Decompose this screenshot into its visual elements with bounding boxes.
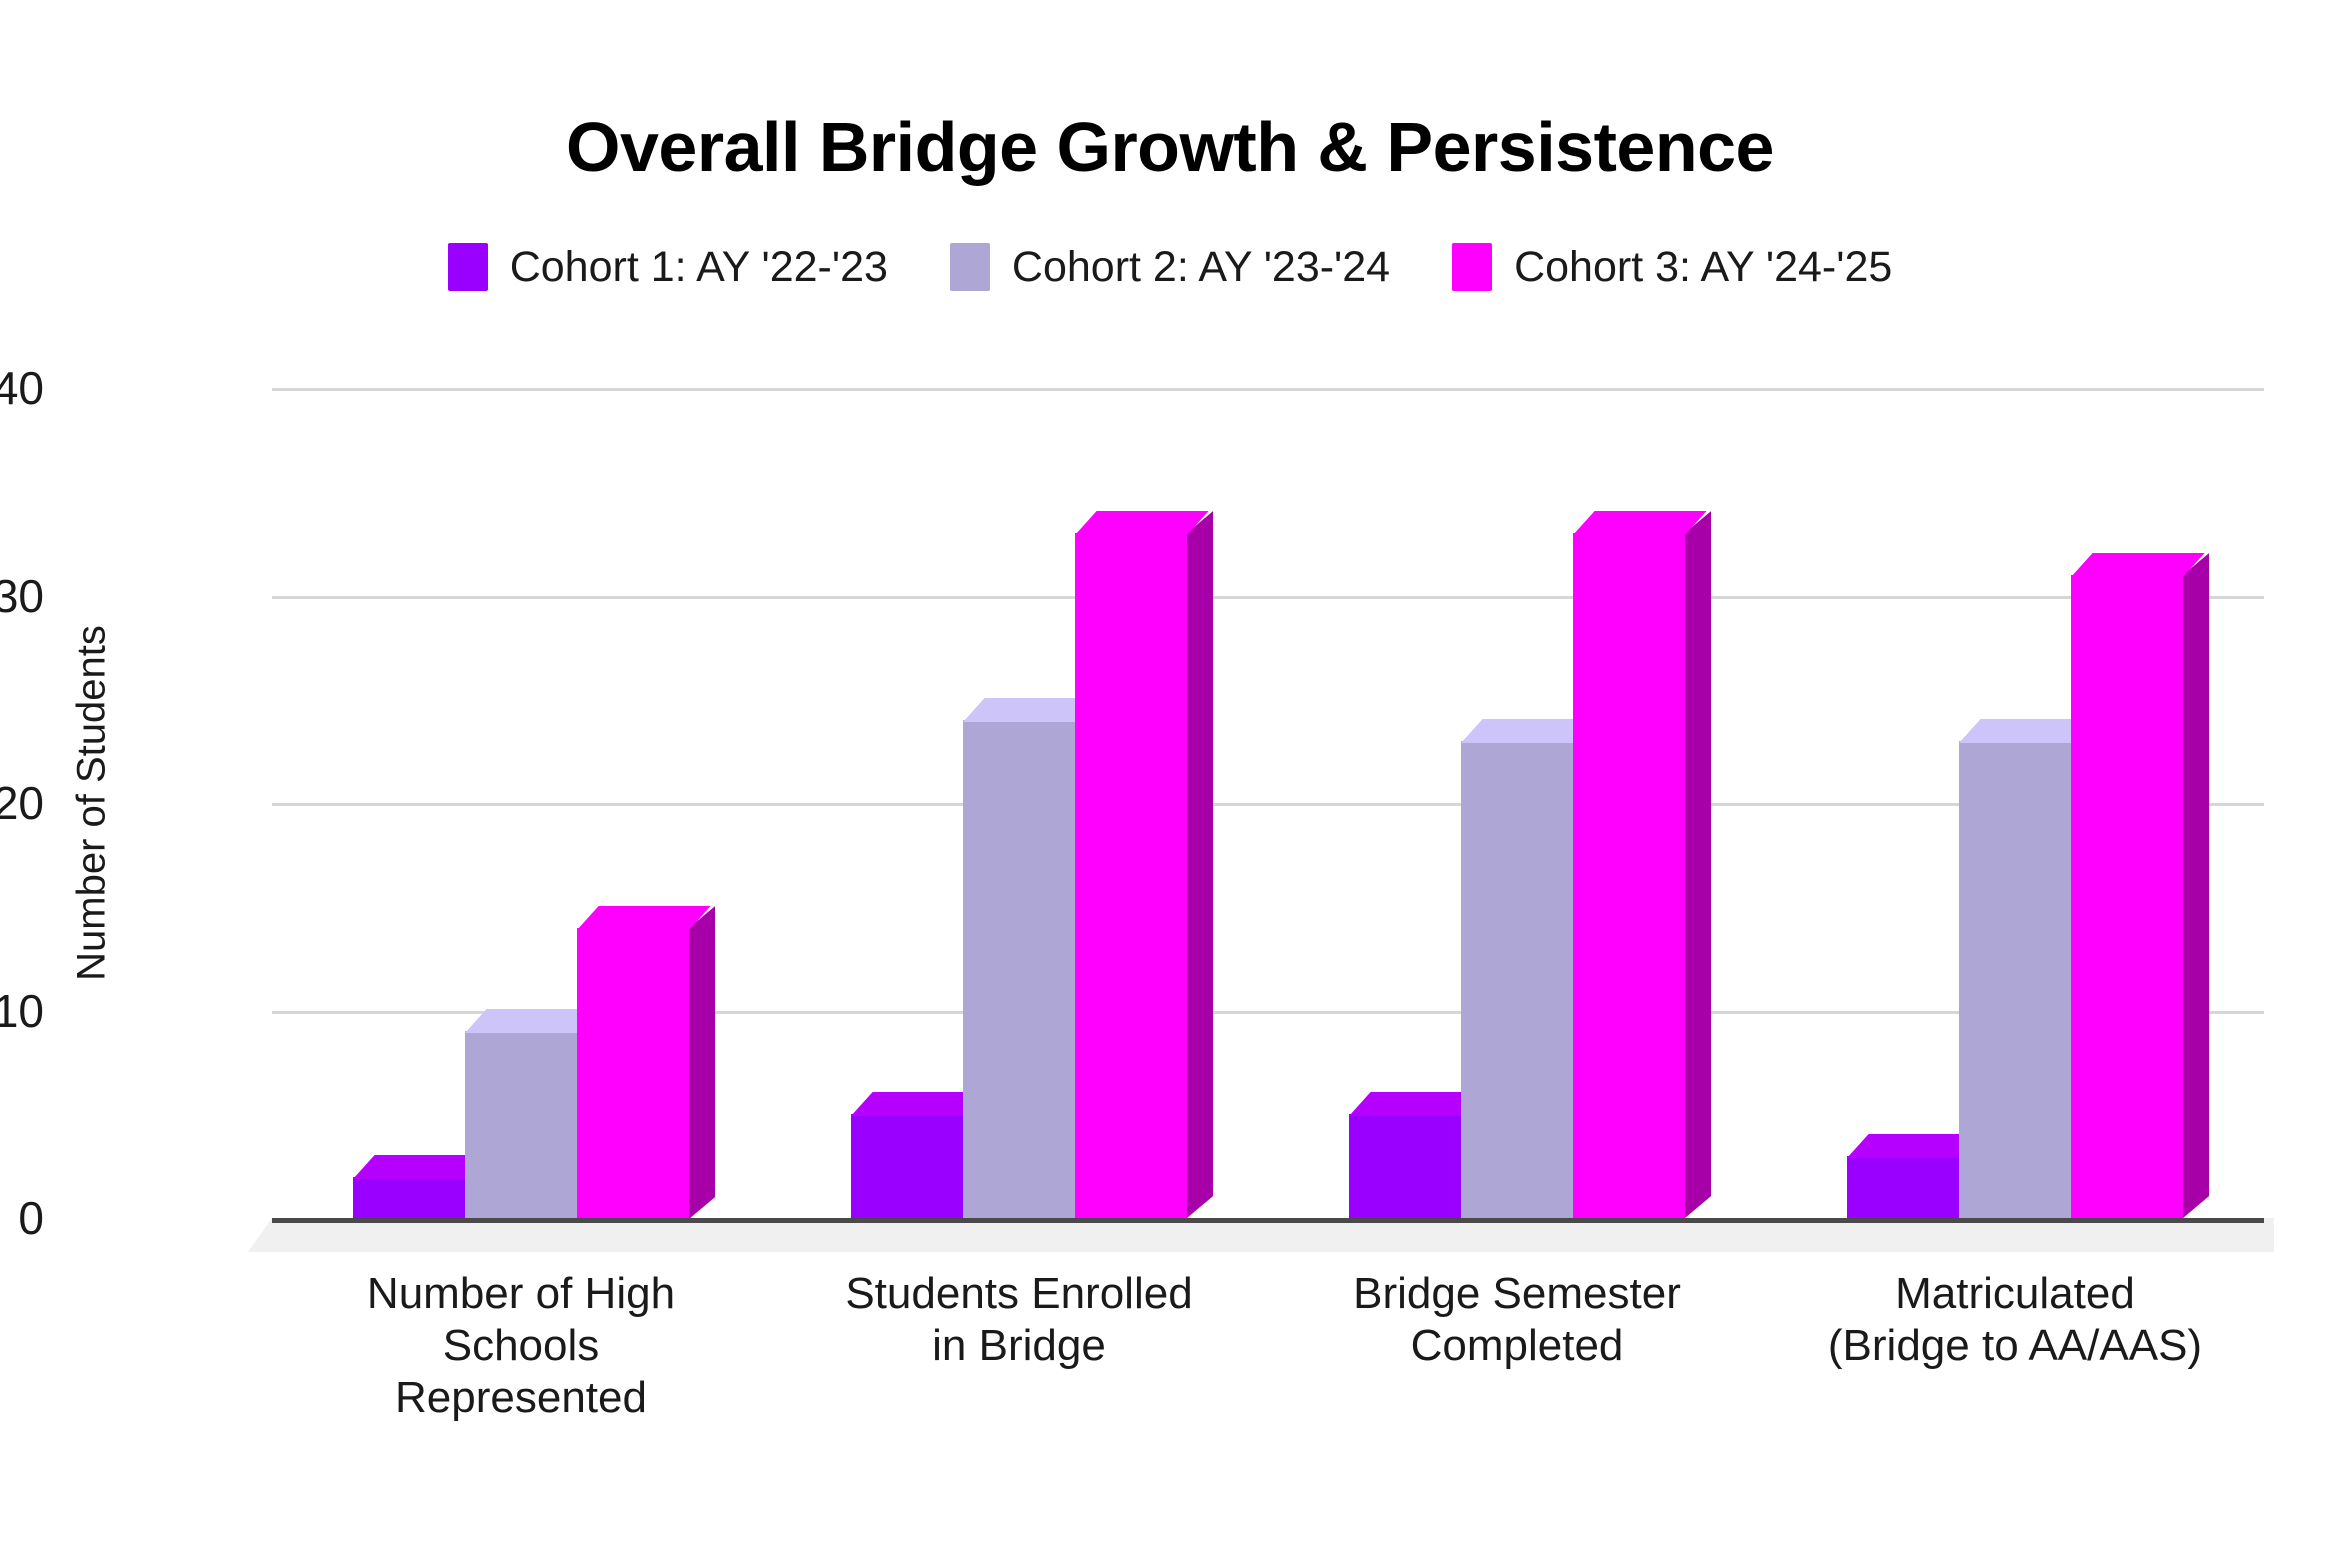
bar-top-face <box>577 906 711 930</box>
bar-group <box>770 388 1268 1218</box>
bar-front-face <box>1573 533 1685 1218</box>
bar[interactable] <box>353 1177 465 1219</box>
bar-top-face <box>1573 511 1707 535</box>
bar[interactable] <box>2071 575 2183 1218</box>
bar-top-face <box>2071 553 2205 577</box>
bar-side-face <box>1685 511 1711 1218</box>
y-tick-label-10: 10 <box>0 988 44 1034</box>
legend-item-cohort-1[interactable]: Cohort 1: AY '22-'23 <box>448 243 888 291</box>
bars-wrapper <box>1268 388 1766 1218</box>
bar-front-face <box>1847 1156 1959 1218</box>
bar[interactable] <box>1349 1114 1461 1218</box>
chart-legend: Cohort 1: AY '22-'23 Cohort 2: AY '23-'2… <box>0 243 2340 291</box>
bar-front-face <box>963 720 1075 1218</box>
bar-front-face <box>2071 575 2183 1218</box>
x-axis-categories: Number of High Schools RepresentedStuden… <box>272 1268 2264 1424</box>
x-axis-category-label: Bridge Semester Completed <box>1268 1268 1766 1424</box>
legend-label-cohort-1: Cohort 1: AY '22-'23 <box>510 246 888 289</box>
bar[interactable] <box>1959 741 2071 1218</box>
bar-front-face <box>1349 1114 1461 1218</box>
bar-front-face <box>851 1114 963 1218</box>
y-tick-label-0: 0 <box>0 1195 44 1241</box>
x-axis-category-label: Number of High Schools Represented <box>272 1268 770 1424</box>
bar-group <box>1766 388 2264 1218</box>
legend-swatch-icon-cohort-2 <box>950 243 990 291</box>
bars-wrapper <box>272 388 770 1218</box>
bar[interactable] <box>577 928 689 1219</box>
bar-side-face <box>2183 553 2209 1218</box>
legend-label-cohort-3: Cohort 3: AY '24-'25 <box>1514 246 1892 289</box>
y-axis-label: Number of Students <box>70 625 115 981</box>
axis-zero-line <box>272 1218 2264 1223</box>
bar-front-face <box>577 928 689 1219</box>
bar-front-face <box>1461 741 1573 1218</box>
bar-top-face <box>1075 511 1209 535</box>
legend-label-cohort-2: Cohort 2: AY '23-'24 <box>1012 246 1390 289</box>
bar-front-face <box>353 1177 465 1219</box>
chart-floor <box>272 1218 2274 1252</box>
bars-wrapper <box>770 388 1268 1218</box>
bar[interactable] <box>1573 533 1685 1218</box>
y-tick-label-40: 40 <box>0 365 44 411</box>
bar-side-face <box>689 906 715 1218</box>
y-axis-label-wrap: Number of Students <box>92 388 93 1218</box>
legend-item-cohort-3[interactable]: Cohort 3: AY '24-'25 <box>1452 243 1892 291</box>
y-tick-label-20: 20 <box>0 780 44 826</box>
chart-title: Overall Bridge Growth & Persistence <box>0 112 2340 182</box>
bar[interactable] <box>963 720 1075 1218</box>
bar[interactable] <box>1847 1156 1959 1218</box>
bar-front-face <box>1959 741 2071 1218</box>
chart-container: Overall Bridge Growth & Persistence Coho… <box>0 0 2340 1560</box>
x-axis-category-label: Students Enrolled in Bridge <box>770 1268 1268 1424</box>
bars-wrapper <box>1766 388 2264 1218</box>
bar[interactable] <box>1075 533 1187 1218</box>
y-tick-label-30: 30 <box>0 573 44 619</box>
legend-item-cohort-2[interactable]: Cohort 2: AY '23-'24 <box>950 243 1390 291</box>
bar[interactable] <box>851 1114 963 1218</box>
legend-swatch-icon-cohort-1 <box>448 243 488 291</box>
bar-groups <box>272 388 2264 1218</box>
legend-swatch-icon-cohort-3 <box>1452 243 1492 291</box>
bar[interactable] <box>1461 741 1573 1218</box>
bar-front-face <box>1075 533 1187 1218</box>
bar[interactable] <box>465 1031 577 1218</box>
bar-group <box>272 388 770 1218</box>
bar-side-face <box>1187 511 1213 1218</box>
bar-group <box>1268 388 1766 1218</box>
bar-front-face <box>465 1031 577 1218</box>
x-axis-category-label: Matriculated (Bridge to AA/AAS) <box>1766 1268 2264 1424</box>
